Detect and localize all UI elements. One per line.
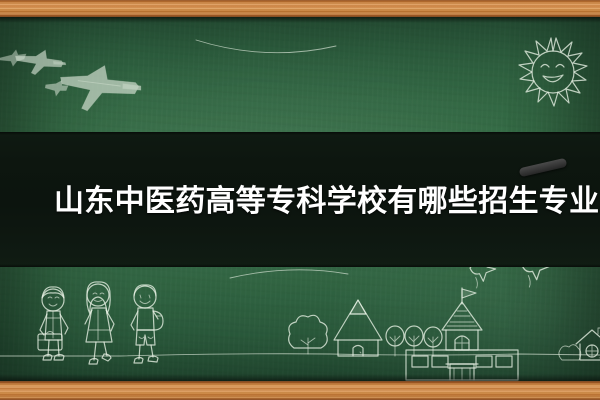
frame-top-grain: [0, 0, 600, 17]
frame-bottom-grain: [0, 381, 600, 400]
cover-banner: 山东中医药高等专科学校有哪些招生专业: [0, 0, 600, 400]
frame-top-shadow: [0, 17, 600, 23]
page-title: 山东中医药高等专科学校有哪些招生专业: [54, 184, 554, 220]
frame-bottom-shadow: [0, 374, 600, 381]
frame-bottom: [0, 381, 600, 400]
frame-top: [0, 0, 600, 17]
